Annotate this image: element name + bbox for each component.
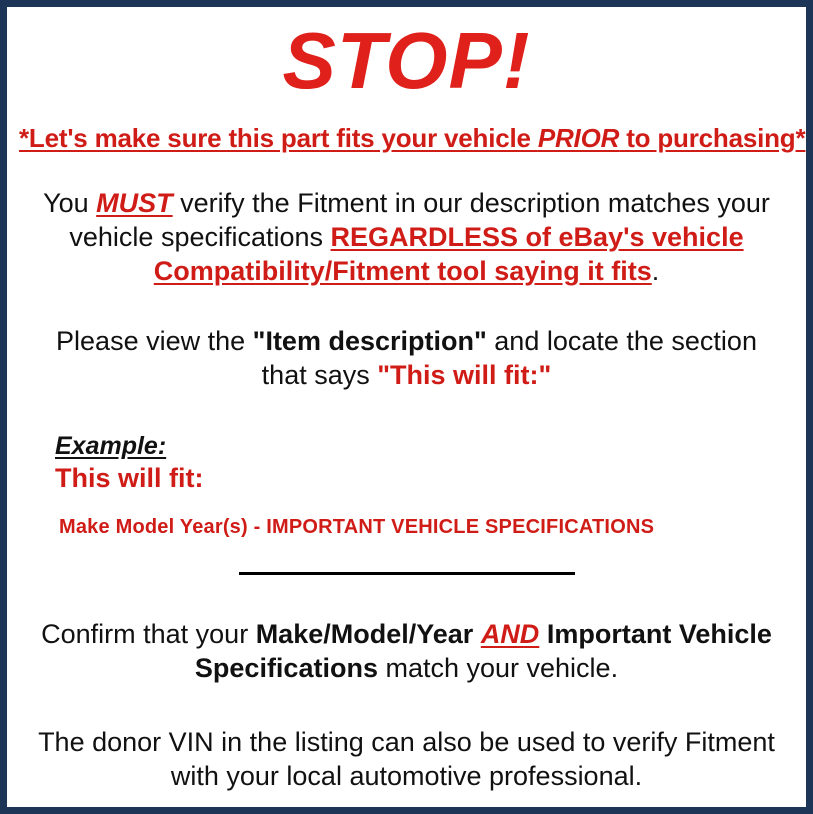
notice-content: STOP! *Let's make sure this part fits yo…: [7, 7, 806, 807]
must-emphasis: MUST: [96, 188, 173, 218]
confirm-space-2: [539, 619, 547, 649]
fitment-notice-card: STOP! *Let's make sure this part fits yo…: [0, 0, 813, 814]
make-model-year-emphasis: Make/Model/Year: [256, 619, 474, 649]
vin-paragraph: The donor VIN in the listing can also be…: [19, 685, 794, 793]
example-spec-line: Make Model Year(s) - IMPORTANT VEHICLE S…: [55, 494, 794, 539]
confirm-space-1: [473, 619, 481, 649]
and-emphasis: AND: [481, 619, 540, 649]
subtitle-line: *Let's make sure this part fits your veh…: [19, 101, 794, 154]
this-will-fit-emphasis: "This will fit:": [377, 360, 551, 390]
subtitle-text-after: to purchasing*: [619, 123, 805, 153]
thanks-line: Thank you for confirming Fitment!: [19, 793, 794, 814]
must-seg-period: .: [652, 256, 660, 286]
example-label: Example:: [55, 432, 166, 461]
view-seg-lead: Please view the: [56, 326, 253, 356]
confirm-paragraph: Confirm that your Make/Model/Year AND Im…: [19, 583, 794, 685]
subtitle-emphasis-prior: PRIOR: [538, 123, 619, 153]
view-description-paragraph: Please view the "Item description" and l…: [19, 288, 794, 392]
divider-row: [19, 539, 794, 583]
item-description-emphasis: "Item description": [253, 326, 487, 356]
example-block: Example: This will fit: Make Model Year(…: [19, 392, 794, 539]
must-seg-lead: You: [43, 188, 96, 218]
example-label-row: Example:: [55, 432, 794, 461]
horizontal-rule: [239, 572, 575, 575]
example-fit-heading: This will fit:: [55, 461, 794, 494]
subtitle-text-before: *Let's make sure this part fits your veh…: [19, 123, 538, 153]
confirm-seg-lead: Confirm that your: [41, 619, 256, 649]
must-verify-paragraph: You MUST verify the Fitment in our descr…: [19, 154, 794, 288]
confirm-seg-tail: match your vehicle.: [378, 653, 618, 683]
stop-title: STOP!: [19, 7, 794, 101]
